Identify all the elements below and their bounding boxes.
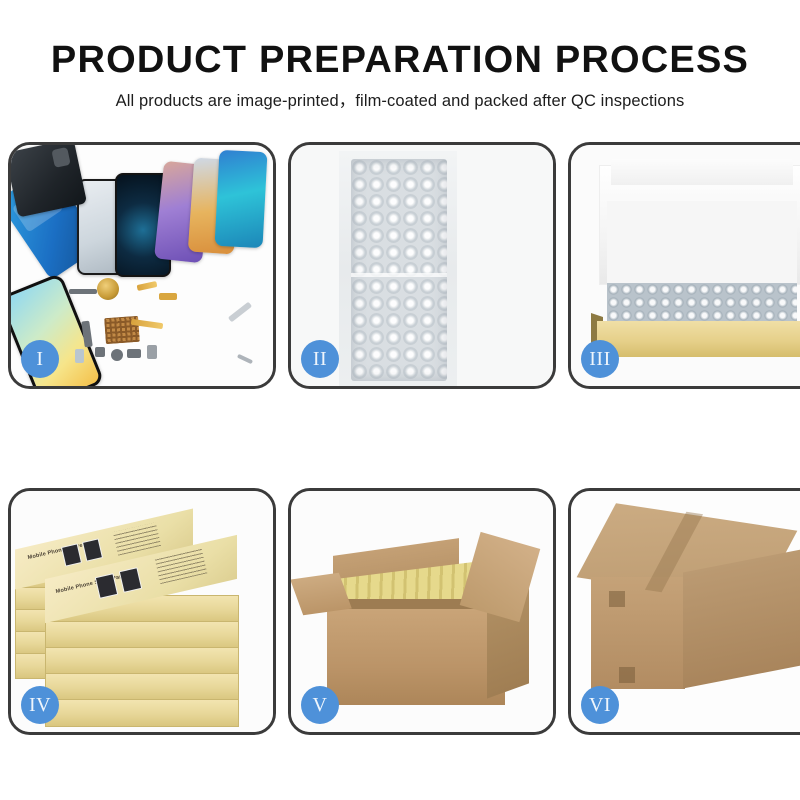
sealed-carton-photo: VI [571, 491, 800, 732]
bubble-wrap-photo: II [291, 145, 553, 386]
stacked-boxes-photo: Mobile Phone Spare Parts Mobile Phone Sp… [11, 491, 273, 732]
power-button-part [147, 345, 157, 359]
pouch-seam [351, 273, 447, 277]
panel-badge-4: IV [21, 686, 59, 724]
lid-inner-surface [607, 201, 797, 285]
carton-tape-patch-upper [609, 591, 625, 607]
stacked-box-front-2 [45, 621, 239, 649]
vibration-motor-part [97, 278, 119, 300]
process-panel-5: V [288, 488, 556, 735]
carton-front-face [683, 550, 800, 689]
lid-flap [611, 159, 793, 185]
carton-front-face [327, 609, 505, 705]
process-panel-6: VI [568, 488, 800, 735]
open-carton-photo: V [291, 491, 553, 732]
open-inner-box-photo: III [571, 145, 800, 386]
teal-gradient-phone [215, 150, 268, 248]
phone-parts-photo: I [11, 145, 273, 386]
panel-badge-3: III [581, 340, 619, 378]
panel-badge-1: I [21, 340, 59, 378]
small-connector-part [95, 347, 105, 357]
bubble-wrap-fill [607, 283, 797, 323]
process-panel-2: II [288, 142, 556, 389]
panel-badge-6: VI [581, 686, 619, 724]
stacked-box-front-3 [45, 647, 239, 675]
process-panel-grid: I II III [8, 142, 792, 792]
bubble-wrap-texture [351, 159, 447, 381]
panel-badge-5: V [301, 686, 339, 724]
gold-contact-part [159, 293, 177, 300]
earpiece-speaker-part [69, 289, 97, 294]
sim-tray-part [127, 349, 141, 358]
process-panel-3: III [568, 142, 800, 389]
panel-badge-2: II [301, 340, 339, 378]
carton-left-face [591, 577, 685, 689]
page-title: PRODUCT PREPARATION PROCESS [0, 0, 800, 82]
camera-lens-part [111, 349, 123, 361]
page-header: PRODUCT PREPARATION PROCESS All products… [0, 0, 800, 132]
page-subtitle: All products are image-printed，film-coat… [0, 82, 800, 111]
stacked-box-front-5 [45, 699, 239, 727]
process-panel-1: I [8, 142, 276, 389]
screen-protector-part [75, 349, 84, 363]
process-panel-4: Mobile Phone Spare Parts Mobile Phone Sp… [8, 488, 276, 735]
kraft-box-front [597, 321, 800, 357]
stacked-box-front-4 [45, 673, 239, 701]
carton-tape-patch-lower [619, 667, 635, 683]
